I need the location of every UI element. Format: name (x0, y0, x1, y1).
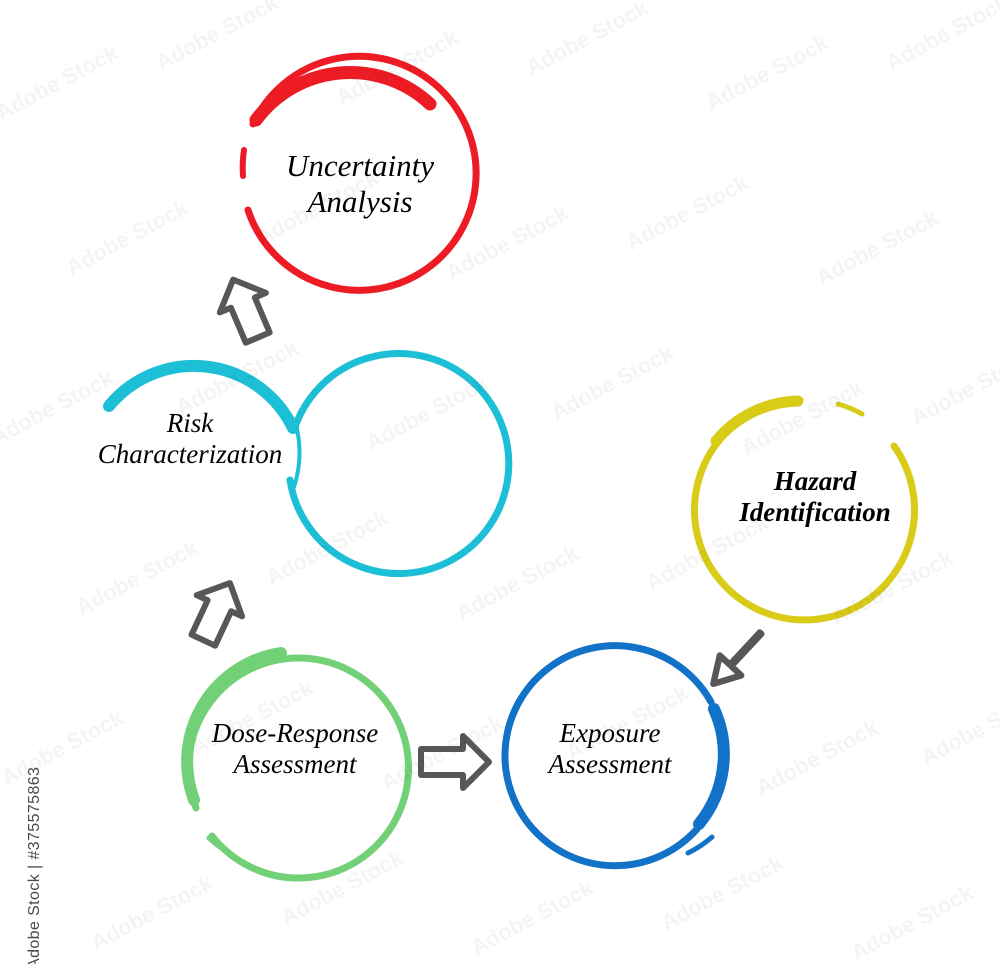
risk-characterization-ring (290, 354, 509, 574)
exposure-assessment-ring (505, 646, 711, 866)
hazard-identification-ring-accent (716, 401, 798, 441)
arrow-body (210, 270, 281, 348)
dose-response-assessment-ring-tail (209, 838, 233, 855)
arrow-body (421, 736, 489, 788)
uncertainty-analysis-ring-tail (243, 150, 244, 176)
node-circle-exposure-assessment[interactable] (505, 646, 724, 866)
arrow-risk-to-uncertainty (210, 270, 281, 348)
uncertainty-analysis-ring-accent (256, 72, 430, 120)
node-circle-risk-characterization[interactable] (109, 354, 509, 574)
risk-characterization-ring-accent (109, 366, 293, 428)
hazard-identification-ring-tail (838, 404, 862, 414)
exposure-assessment-ring-accent (699, 709, 724, 824)
risk-characterization-ring-tail (294, 425, 299, 487)
node-circle-hazard-identification[interactable] (694, 400, 914, 620)
arrow-dose-response-to-risk (181, 573, 253, 651)
arrow-glyph (703, 623, 772, 694)
diagram-canvas: Uncertainty Analysis Risk Characterizati… (0, 0, 1000, 964)
watermark-credit-text: Adobe Stock | #375575863 (26, 629, 44, 964)
arrow-hazard-to-exposure (703, 623, 772, 694)
cycle-diagram-graphic (0, 0, 1000, 964)
node-circle-dose-response-assessment[interactable] (187, 653, 408, 878)
node-circle-uncertainty-analysis[interactable] (243, 56, 476, 290)
arrow-exposure-to-dose-response (421, 736, 489, 788)
dose-response-assessment-ring-accent (187, 653, 281, 800)
arrow-body (181, 573, 253, 651)
